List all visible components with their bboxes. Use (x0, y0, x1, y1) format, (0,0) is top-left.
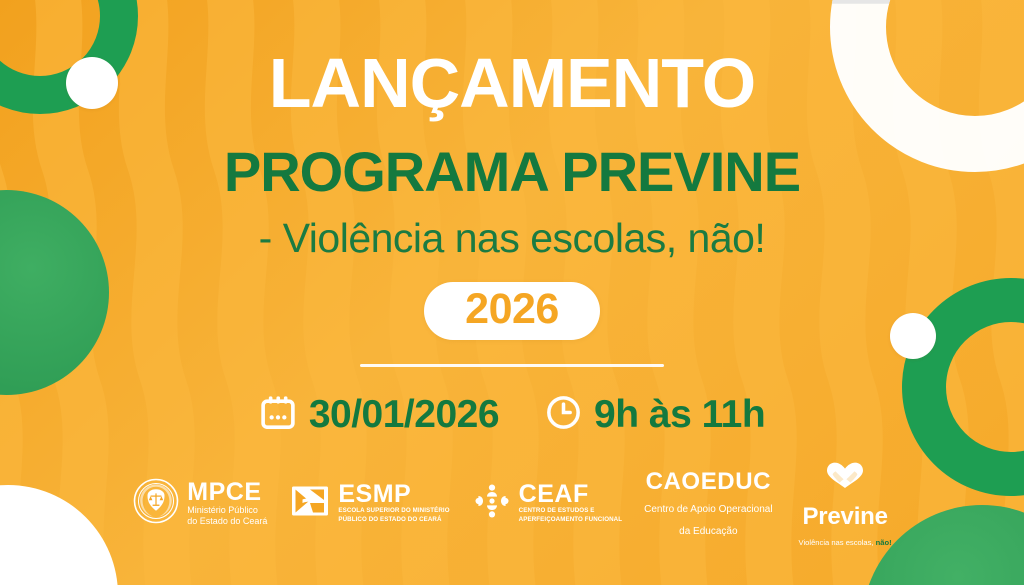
logo-ceaf-line-2: APERFEIÇOAMENTO FUNCIONAL (519, 516, 622, 525)
esmp-book-icon (289, 480, 331, 527)
logo-mpce: MPCE Ministério Público do Estado do Cea… (132, 477, 267, 530)
event-date: 30/01/2026 (259, 393, 499, 436)
logo-previne-acronym: Previne (802, 505, 887, 529)
logo-caoeduc: CAOEDUC Centro de Apoio Operacional da E… (644, 470, 772, 538)
calendar-icon (259, 393, 297, 436)
logo-esmp-line-2: PÚBLICO DO ESTADO DO CEARÁ (338, 516, 449, 525)
logo-mpce-line-2: do Estado do Ceará (187, 516, 267, 528)
logo-mpce-line-1: Ministério Público (187, 505, 267, 517)
year-badge: 2026 (424, 282, 600, 340)
logo-ceaf-line-1: CENTRO DE ESTUDOS E (519, 507, 622, 516)
logo-previne: Previne Violência nas escolas, não! (799, 460, 892, 547)
logo-previne-tagline-accent: não! (876, 538, 892, 547)
logo-ceaf-acronym: CEAF (519, 482, 622, 507)
logo-previne-tagline: Violência nas escolas, não! (799, 538, 892, 547)
partner-logo-bar: MPCE Ministério Público do Estado do Cea… (132, 460, 891, 547)
logo-esmp-text: ESMP ESCOLA SUPERIOR DO MINISTÉRIO PÚBLI… (338, 482, 449, 525)
clock-icon (545, 394, 582, 436)
event-when-row: 30/01/2026 9h às 11h (259, 393, 765, 436)
divider (360, 364, 664, 367)
logo-esmp: ESMP ESCOLA SUPERIOR DO MINISTÉRIO PÚBLI… (289, 480, 449, 527)
program-subtitle: - Violência nas escolas, não! (259, 217, 766, 260)
logo-mpce-acronym: MPCE (187, 480, 267, 505)
logo-caoeduc-line-1: Centro de Apoio Operacional (644, 503, 772, 516)
logo-ceaf-text: CEAF CENTRO DE ESTUDOS E APERFEIÇOAMENTO… (519, 482, 622, 525)
program-title: PROGRAMA PREVINE (224, 144, 800, 200)
heart-hands-icon (822, 460, 868, 495)
event-time-text: 9h às 11h (594, 395, 765, 434)
headline: LANÇAMENTO (269, 48, 755, 118)
logo-caoeduc-acronym: CAOEDUC (646, 470, 772, 494)
event-launch-banner: LANÇAMENTO PROGRAMA PREVINE - Violência … (0, 0, 1024, 585)
ceaf-people-icon (472, 481, 512, 526)
mpce-seal-icon (132, 477, 180, 530)
logo-esmp-line-1: ESCOLA SUPERIOR DO MINISTÉRIO (338, 507, 449, 516)
event-date-text: 30/01/2026 (309, 395, 499, 434)
event-time: 9h às 11h (545, 394, 765, 436)
logo-esmp-acronym: ESMP (338, 482, 449, 507)
logo-mpce-text: MPCE Ministério Público do Estado do Cea… (187, 480, 267, 528)
logo-caoeduc-line-2: da Educação (679, 525, 737, 538)
logo-previne-tagline-prefix: Violência nas escolas, (799, 538, 876, 547)
logo-ceaf: CEAF CENTRO DE ESTUDOS E APERFEIÇOAMENTO… (472, 481, 622, 526)
